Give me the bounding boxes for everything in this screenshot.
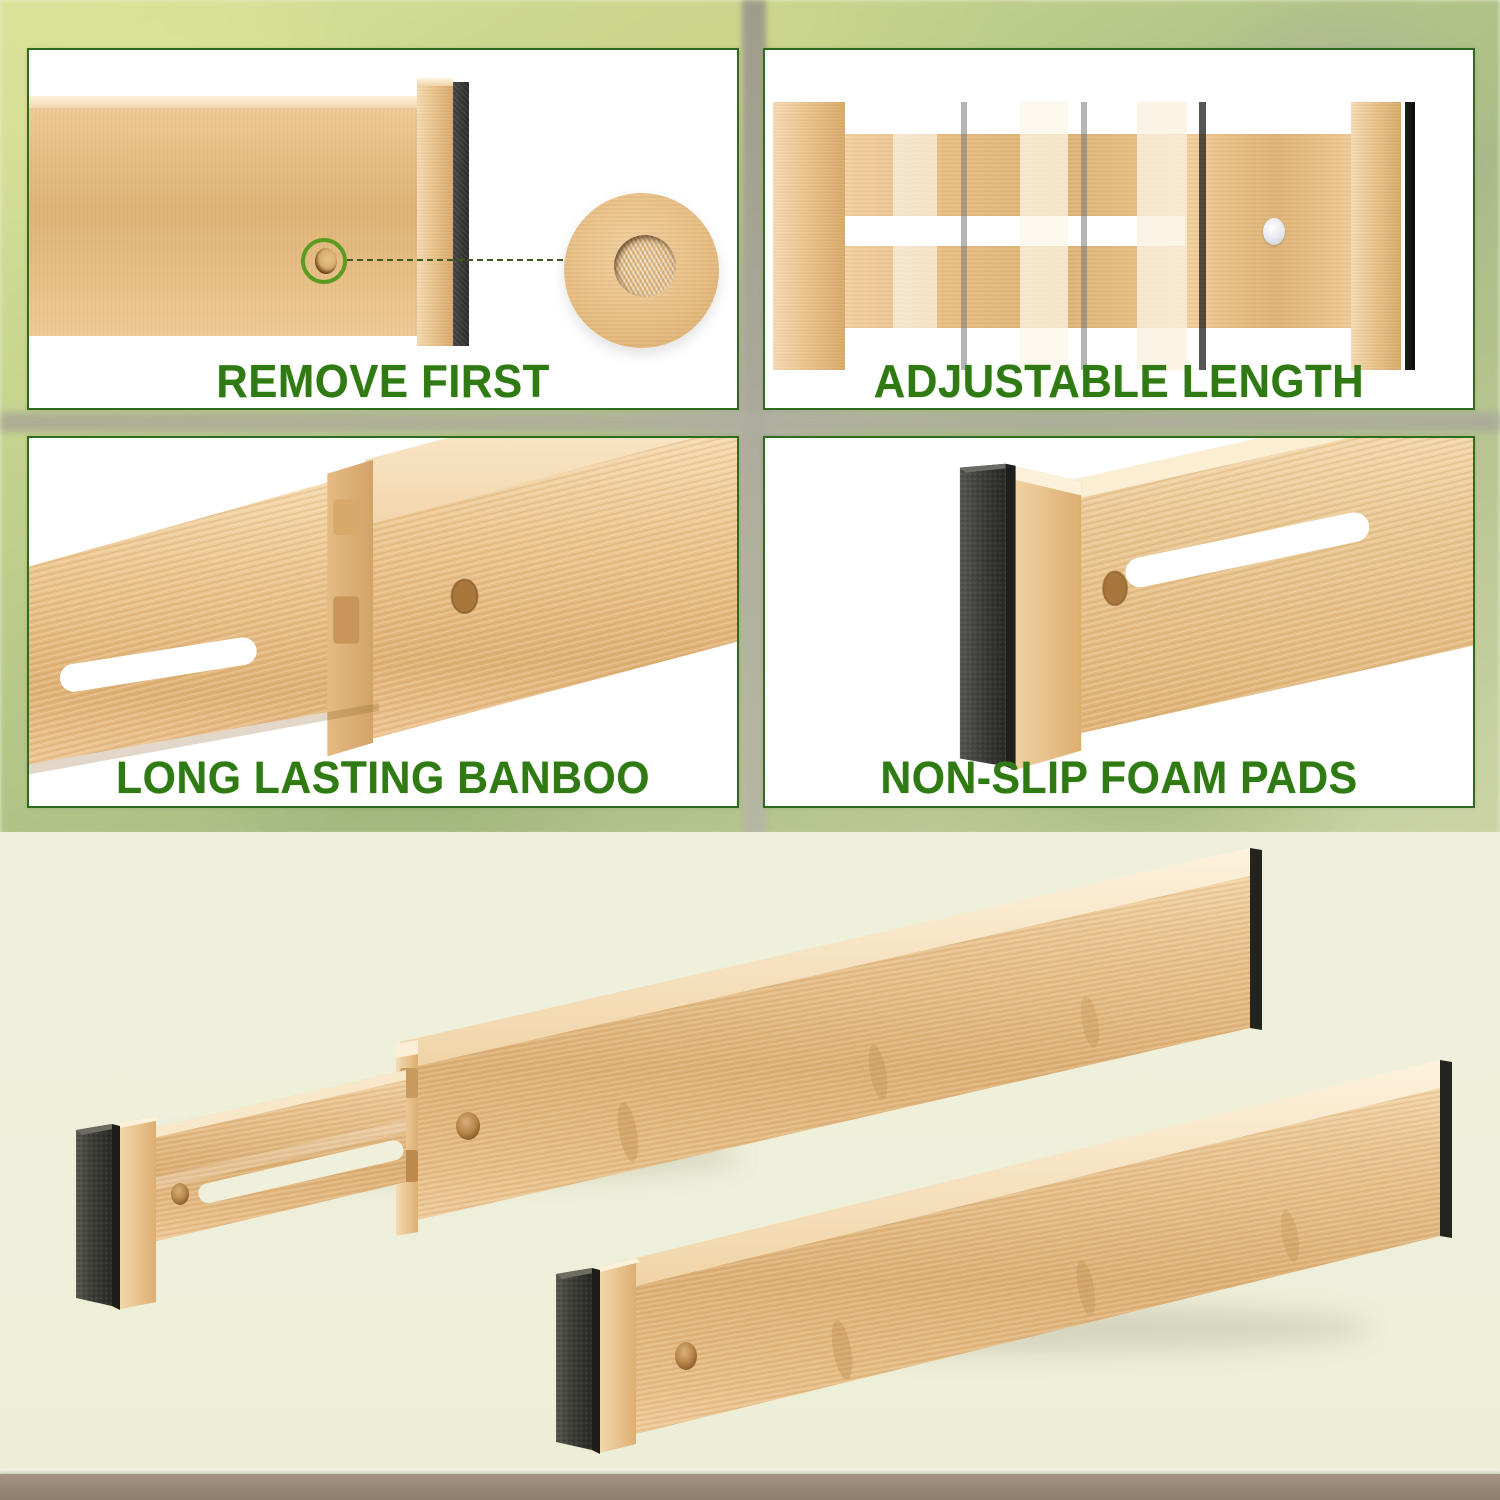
screw-hole-2 [675, 1342, 697, 1370]
bamboo-board-top-edge [29, 96, 417, 108]
panel-adjustable-length: ADJUSTABLE LENGTH [763, 48, 1475, 410]
panel-remove-first: REMOVE FIRST [27, 48, 739, 410]
panel-caption-long-lasting-banboo: LONG LASTING BANBOO [47, 755, 720, 800]
outer-board-right-foam-edge [1250, 848, 1262, 1030]
magnified-screw-hole [614, 235, 676, 297]
panel-long-lasting-banboo: LONG LASTING BANBOO [27, 436, 739, 808]
foam-pad-seam [112, 1124, 120, 1310]
ghost-extension-3 [1137, 102, 1187, 370]
bamboo-board-face [29, 106, 417, 336]
left-end-cap-2 [596, 1258, 636, 1454]
ghost-extension-line-2 [1081, 102, 1087, 370]
bamboo-end-cap [417, 84, 453, 346]
window-frame-horizontal-blur [0, 412, 1500, 432]
panel-non-slip-foam-pads-stage [765, 438, 1473, 806]
left-end-cap [116, 1116, 156, 1310]
floor-strip [0, 1474, 1500, 1500]
screw-hole-outer [456, 1112, 480, 1140]
board-right-foam-edge-2 [1440, 1060, 1452, 1238]
foam-pad-illustration [765, 438, 1473, 806]
screw-hole-inner [171, 1183, 189, 1205]
black-foam-pad [453, 82, 469, 346]
spring-pin [1263, 218, 1285, 245]
foam-pad-seam [1006, 464, 1016, 771]
hero-dividers-illustration [0, 832, 1500, 1500]
bamboo-joint-illustration [29, 438, 737, 806]
panel-caption-remove-first: REMOVE FIRST [47, 358, 720, 404]
ghost-extension-2 [1020, 102, 1068, 370]
ghost-extension-line-1 [961, 102, 967, 370]
ghost-extension-1 [893, 102, 937, 370]
bamboo-end-cap-top [417, 78, 453, 86]
hero-product-scene [0, 832, 1500, 1500]
channel-notch-lower [333, 596, 359, 643]
panel-caption-non-slip-foam-pads: NON-SLIP FOAM PADS [783, 755, 1456, 800]
black-foam-pad-right [1405, 102, 1415, 370]
bamboo-right-end-cap [1351, 102, 1401, 370]
screw-hole [315, 248, 337, 274]
bamboo-left-end-cap [773, 102, 845, 370]
infographic-canvas: REMOVE FIRST ADJUSTABLE LENGTH [0, 0, 1500, 1500]
panel-caption-adjustable-length: ADJUSTABLE LENGTH [783, 358, 1456, 404]
magnifier-inset-circle [564, 193, 719, 348]
panel-long-lasting-banboo-stage [29, 438, 737, 806]
bamboo-end-cap [1014, 466, 1082, 771]
ghost-extension-line-3 [1199, 102, 1206, 370]
channel-notch-upper [333, 499, 359, 535]
callout-dashed-leader-line [347, 259, 563, 261]
panel-non-slip-foam-pads: NON-SLIP FOAM PADS [763, 436, 1475, 808]
foam-pad-seam-2 [592, 1268, 600, 1454]
